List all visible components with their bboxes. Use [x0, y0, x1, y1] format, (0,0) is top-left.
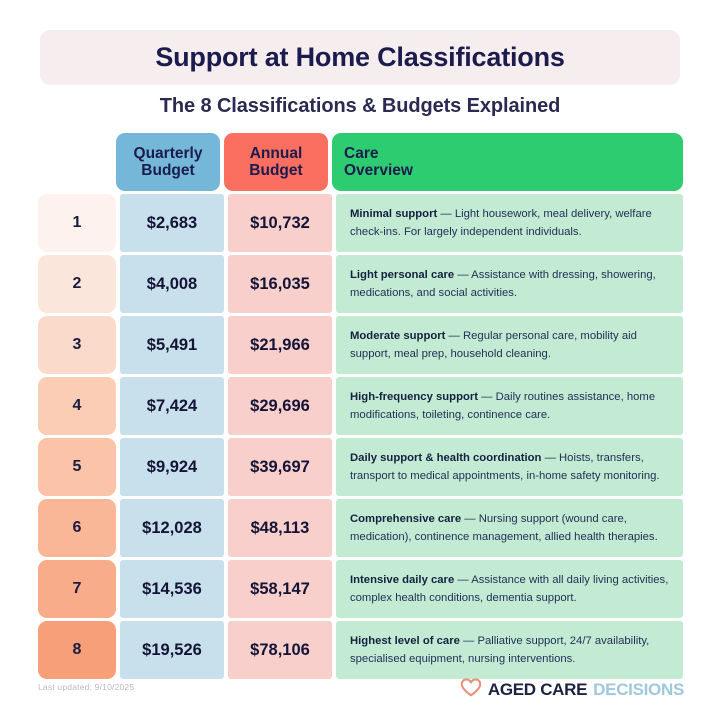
cell-care-overview: Daily support & health coordination — Ho… — [336, 438, 683, 496]
table-row: 6$12,028$48,113Comprehensive care — Nurs… — [38, 499, 683, 557]
cell-quarterly-budget: $7,424 — [120, 377, 224, 435]
cell-annual-budget: $39,697 — [228, 438, 332, 496]
care-overview-label: Moderate support — [350, 330, 445, 342]
cell-care-overview: Highest level of care — Palliative suppo… — [336, 621, 683, 679]
cell-annual-budget: $29,696 — [228, 377, 332, 435]
care-overview-text: High-frequency support — Daily routines … — [350, 388, 669, 425]
table-row: 1$2,683$10,732Minimal support — Light ho… — [38, 194, 683, 252]
cell-level: 4 — [38, 377, 116, 435]
cell-annual-budget: $10,732 — [228, 194, 332, 252]
table-row: 3$5,491$21,966Moderate support — Regular… — [38, 316, 683, 374]
cell-quarterly-budget: $5,491 — [120, 316, 224, 374]
cell-level: 6 — [38, 499, 116, 557]
care-overview-label: High-frequency support — [350, 391, 478, 403]
care-overview-text: Intensive daily care — Assistance with a… — [350, 571, 669, 608]
cell-care-overview: Minimal support — Light housework, meal … — [336, 194, 683, 252]
cell-quarterly-budget: $14,536 — [120, 560, 224, 618]
header-cell-care-overview: Care Overview — [332, 133, 683, 191]
cell-level: 3 — [38, 316, 116, 374]
heart-icon — [460, 678, 482, 702]
brand-logo: AGED CARE DECISIONS — [460, 678, 684, 702]
care-overview-label: Daily support & health coordination — [350, 452, 541, 464]
cell-care-overview: Comprehensive care — Nursing support (wo… — [336, 499, 683, 557]
cell-care-overview: High-frequency support — Daily routines … — [336, 377, 683, 435]
table-row: 7$14,536$58,147Intensive daily care — As… — [38, 560, 683, 618]
cell-care-overview: Light personal care — Assistance with dr… — [336, 255, 683, 313]
logo-text-secondary: DECISIONS — [593, 680, 684, 700]
infographic-page: Support at Home Classifications The 8 Cl… — [0, 0, 720, 720]
table-body: 1$2,683$10,732Minimal support — Light ho… — [38, 194, 683, 679]
logo-text-primary: AGED CARE — [488, 680, 587, 700]
classifications-table: Quarterly Budget Annual Budget Care Over… — [38, 133, 683, 682]
cell-level: 1 — [38, 194, 116, 252]
header-quarterly-line2: Budget — [141, 162, 194, 179]
cell-care-overview: Intensive daily care — Assistance with a… — [336, 560, 683, 618]
cell-annual-budget: $58,147 — [228, 560, 332, 618]
table-row: 4$7,424$29,696High-frequency support — D… — [38, 377, 683, 435]
cell-care-overview: Moderate support — Regular personal care… — [336, 316, 683, 374]
care-overview-text: Minimal support — Light housework, meal … — [350, 205, 669, 242]
header-annual-line1: Annual — [250, 145, 303, 162]
header-quarterly-line1: Quarterly — [134, 145, 203, 162]
table-row: 8$19,526$78,106Highest level of care — P… — [38, 621, 683, 679]
cell-level: 2 — [38, 255, 116, 313]
cell-level: 5 — [38, 438, 116, 496]
cell-quarterly-budget: $4,008 — [120, 255, 224, 313]
care-overview-label: Highest level of care — [350, 635, 460, 647]
care-overview-text: Highest level of care — Palliative suppo… — [350, 632, 669, 669]
care-overview-label: Comprehensive care — [350, 513, 461, 525]
cell-annual-budget: $16,035 — [228, 255, 332, 313]
page-title: Support at Home Classifications — [155, 42, 564, 73]
header-care-line1: Care — [344, 145, 683, 162]
care-overview-text: Daily support & health coordination — Ho… — [350, 449, 669, 486]
cell-quarterly-budget: $12,028 — [120, 499, 224, 557]
page-subtitle: The 8 Classifications & Budgets Explaine… — [0, 95, 720, 118]
cell-level: 8 — [38, 621, 116, 679]
header-cell-annual-budget: Annual Budget — [224, 133, 328, 191]
last-updated-label: Last updated: 9/10/2025 — [38, 682, 134, 692]
table-header-row: Quarterly Budget Annual Budget Care Over… — [38, 133, 683, 191]
care-overview-text: Light personal care — Assistance with dr… — [350, 266, 669, 303]
cell-annual-budget: $78,106 — [228, 621, 332, 679]
cell-annual-budget: $21,966 — [228, 316, 332, 374]
care-overview-label: Intensive daily care — [350, 574, 454, 586]
table-row: 5$9,924$39,697Daily support & health coo… — [38, 438, 683, 496]
cell-quarterly-budget: $9,924 — [120, 438, 224, 496]
care-overview-text: Moderate support — Regular personal care… — [350, 327, 669, 364]
cell-level: 7 — [38, 560, 116, 618]
care-overview-text: Comprehensive care — Nursing support (wo… — [350, 510, 669, 547]
table-row: 2$4,008$16,035Light personal care — Assi… — [38, 255, 683, 313]
care-overview-label: Light personal care — [350, 269, 454, 281]
cell-quarterly-budget: $2,683 — [120, 194, 224, 252]
header-annual-line2: Budget — [249, 162, 302, 179]
header-cell-level — [38, 133, 116, 191]
title-banner: Support at Home Classifications — [40, 30, 680, 85]
cell-quarterly-budget: $19,526 — [120, 621, 224, 679]
care-overview-label: Minimal support — [350, 208, 437, 220]
header-cell-quarterly-budget: Quarterly Budget — [116, 133, 220, 191]
header-care-line2: Overview — [344, 162, 683, 179]
cell-annual-budget: $48,113 — [228, 499, 332, 557]
